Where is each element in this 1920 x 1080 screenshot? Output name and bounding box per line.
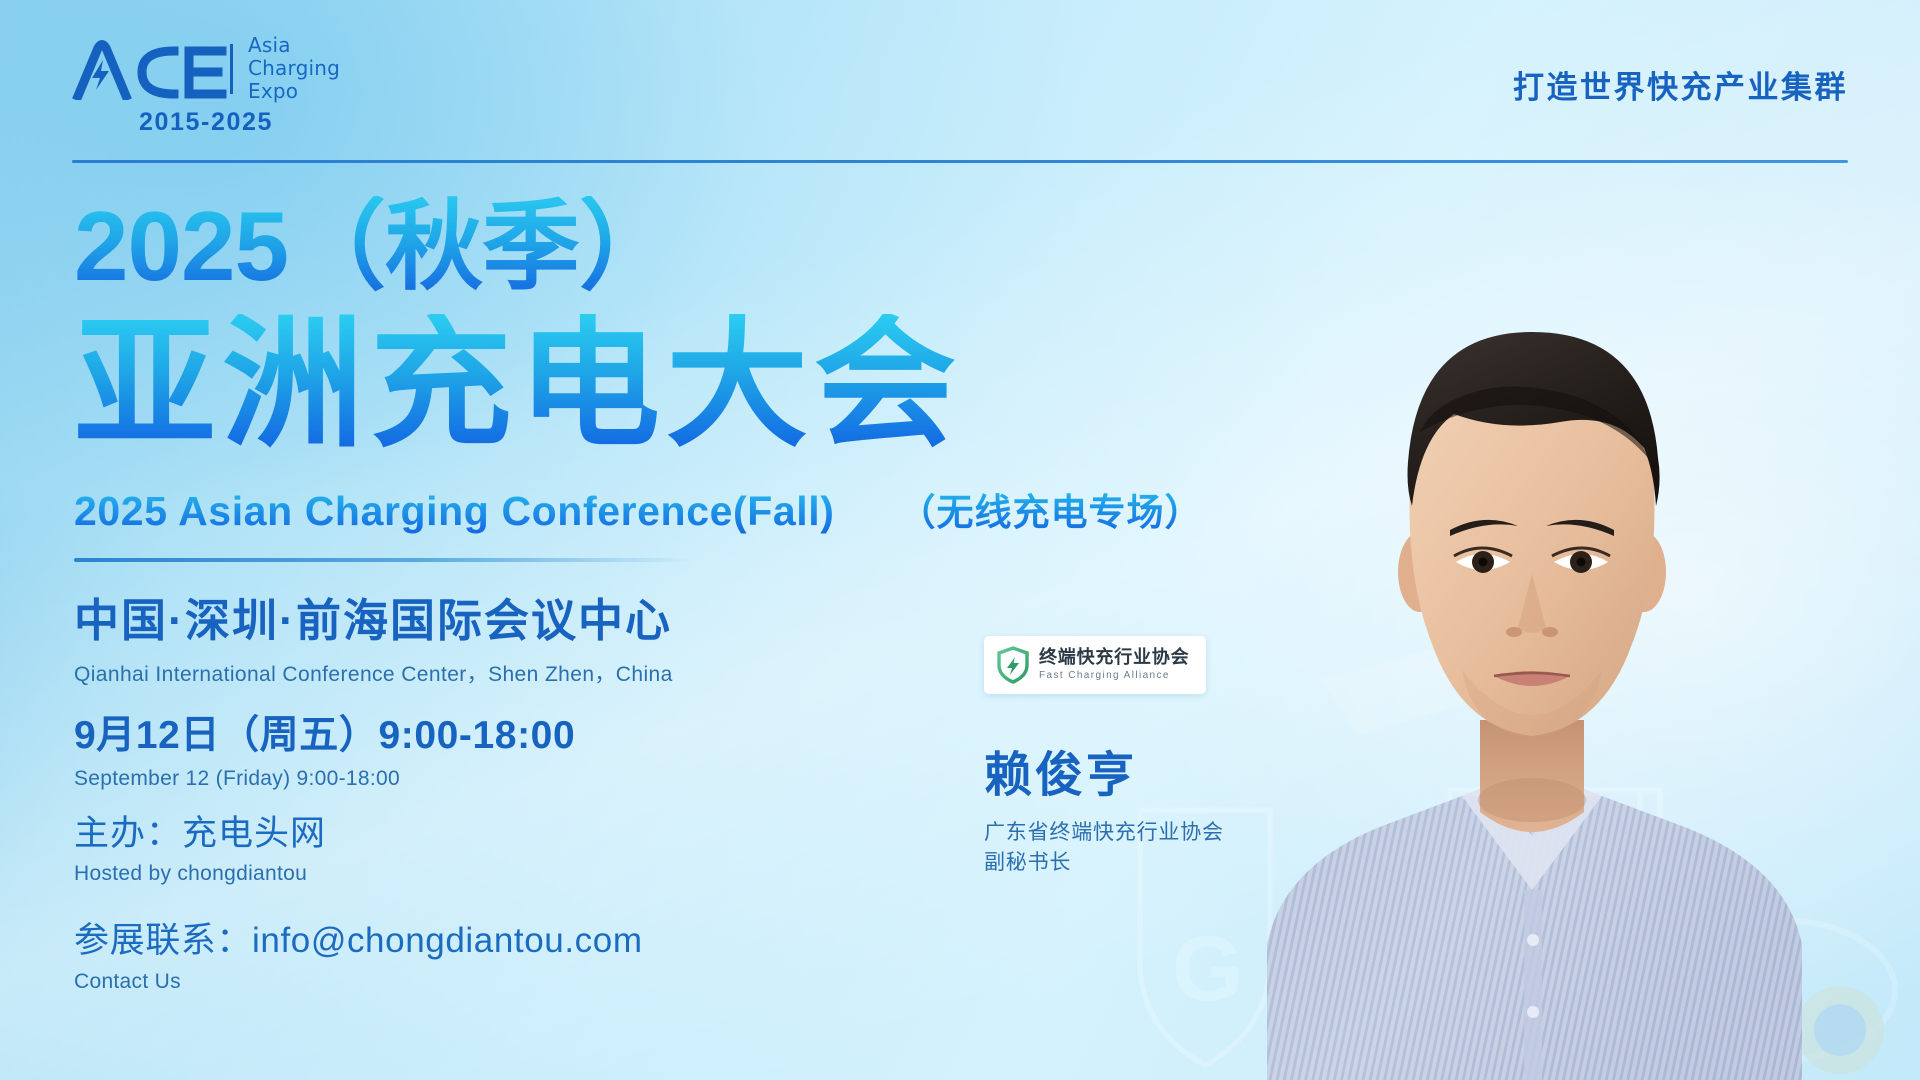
logo-row: Asia Charging Expo: [72, 34, 340, 104]
shirt-collar: [1462, 784, 1602, 890]
subtitle-english: 2025 Asian Charging Conference(Fall): [74, 488, 835, 535]
association-text: 终端快充行业协会 Fast Charging Alliance: [1039, 648, 1189, 683]
right-ear: [1622, 532, 1666, 612]
speaker-job-title: 副秘书长: [984, 848, 1071, 878]
right-eye: [1552, 548, 1610, 573]
page-title: 亚洲充电大会: [74, 314, 1254, 456]
poster-header: Asia Charging Expo 2015-2025 打造世界快充产业集群: [0, 0, 1920, 170]
speaker-organization: 广东省终端快充行业协会: [984, 818, 1224, 848]
right-eyebrow: [1546, 520, 1614, 536]
left-eye: [1454, 548, 1512, 573]
logo-word-expo: Expo: [248, 80, 340, 103]
ace-logo: Asia Charging Expo 2015-2025: [72, 34, 340, 137]
logo-subtitle-words: Asia Charging Expo: [248, 34, 340, 104]
title-year: 2025（秋季）: [74, 196, 1254, 298]
left-ear: [1398, 532, 1442, 612]
subtitle-row: 2025 Asian Charging Conference(Fall) （无线…: [74, 482, 1254, 536]
ace-wordmark-icon: [72, 38, 234, 100]
shield-bolt-icon: [996, 646, 1030, 684]
hair: [1408, 332, 1660, 506]
content-divider: [74, 558, 694, 562]
face: [1409, 348, 1654, 736]
contact-chinese[interactable]: 参展联系：info@chongdiantou.com: [74, 912, 1254, 963]
shirt: [1267, 796, 1802, 1080]
logo-years: 2015-2025: [139, 108, 273, 137]
association-badge: 终端快充行业协会 Fast Charging Alliance: [984, 636, 1206, 694]
logo-word-asia: Asia: [248, 34, 340, 57]
neck: [1480, 720, 1584, 832]
logo-word-charging: Charging: [248, 57, 340, 80]
mouth: [1494, 671, 1570, 686]
association-name-english: Fast Charging Alliance: [1039, 669, 1189, 682]
speaker-name: 赖俊亨: [984, 735, 1137, 805]
jaw-shadow: [1462, 670, 1602, 740]
left-eyebrow: [1450, 520, 1518, 536]
header-divider: [72, 160, 1848, 163]
subtitle-chinese-session: （无线充电专场）: [899, 482, 1203, 536]
speaker-portrait: [1162, 200, 1902, 1080]
header-slogan: 打造世界快充产业集群: [1513, 62, 1848, 107]
contact-english: Contact Us: [74, 970, 1254, 994]
nose: [1518, 574, 1546, 633]
host-english: Hosted by chongdiantou: [74, 862, 1254, 886]
main-content: 2025（秋季） 亚洲充电大会 2025 Asian Charging Conf…: [74, 196, 1254, 994]
conference-poster: G: [0, 0, 1920, 1080]
association-name-chinese: 终端快充行业协会: [1039, 648, 1189, 668]
